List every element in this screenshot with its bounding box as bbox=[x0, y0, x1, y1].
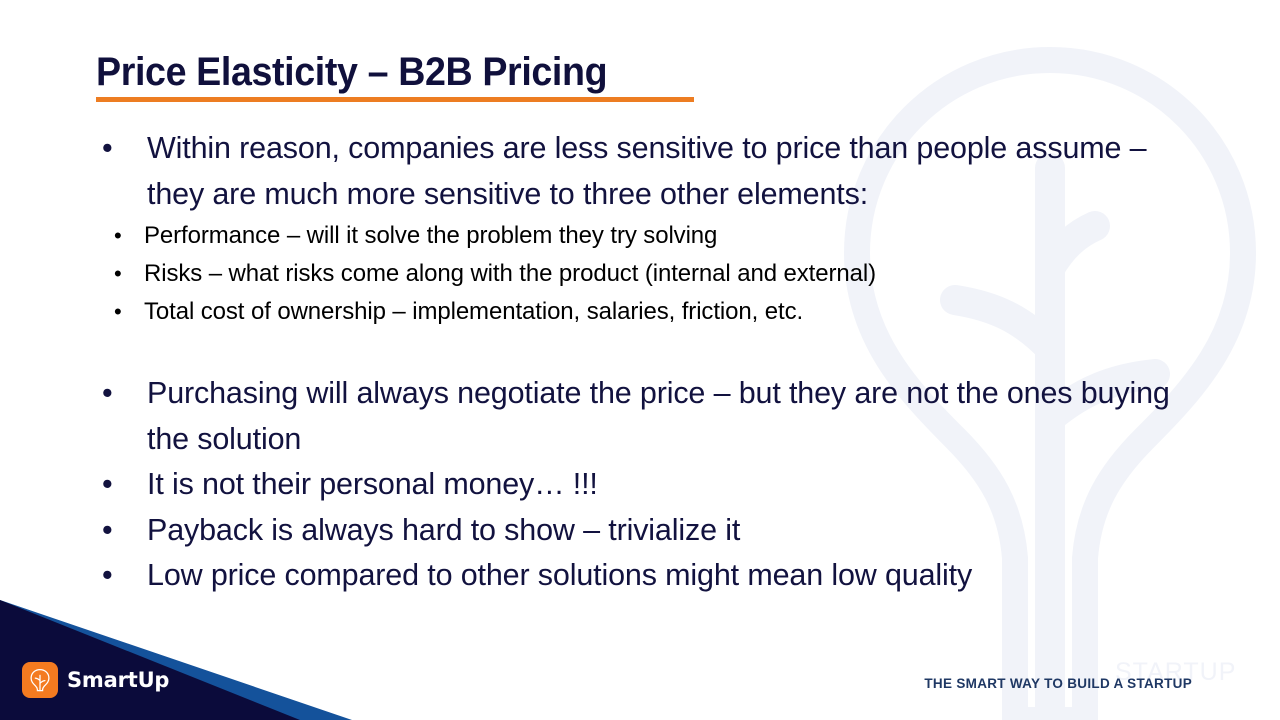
bullet-text: Within reason, companies are less sensit… bbox=[147, 131, 1146, 211]
bullet-text: Payback is always hard to show – trivial… bbox=[147, 513, 740, 547]
footer-tagline: THE SMART WAY TO BUILD A STARTUP bbox=[924, 676, 1192, 691]
bullet-marker: • bbox=[114, 255, 122, 293]
title-underline-rule bbox=[96, 97, 694, 102]
lightbulb-tree-icon bbox=[27, 667, 53, 693]
brand-wordmark: SmartUp bbox=[67, 668, 169, 692]
bullet-text: Purchasing will always negotiate the pri… bbox=[147, 376, 1170, 456]
brand-logo-lockup: SmartUp bbox=[22, 662, 169, 698]
slide-canvas: STARTUP Price Elasticity – B2B Pricing •… bbox=[0, 0, 1280, 720]
sub-bullet-item-2: • Risks – what risks come along with the… bbox=[96, 255, 1206, 293]
bullet-marker: • bbox=[102, 126, 113, 172]
sub-bullet-item-1: • Performance – will it solve the proble… bbox=[96, 217, 1206, 255]
bullet-marker: • bbox=[102, 508, 113, 554]
bullet-marker: • bbox=[114, 217, 122, 255]
page-title: Price Elasticity – B2B Pricing bbox=[96, 50, 658, 94]
corner-decoration bbox=[0, 600, 420, 720]
bullet-item-4: • Payback is always hard to show – trivi… bbox=[96, 508, 1206, 554]
bullet-text: Risks – what risks come along with the p… bbox=[144, 260, 876, 287]
bullet-marker: • bbox=[114, 293, 122, 331]
corner-navy-triangle bbox=[0, 600, 300, 720]
slide-body: • Within reason, companies are less sens… bbox=[96, 126, 1206, 599]
bullet-item-1: • Within reason, companies are less sens… bbox=[96, 126, 1206, 217]
bullet-text: Performance – will it solve the problem … bbox=[144, 222, 717, 249]
bullet-text: Low price compared to other solutions mi… bbox=[147, 558, 972, 592]
bullet-item-2: • Purchasing will always negotiate the p… bbox=[96, 371, 1206, 462]
smartup-logo-tile bbox=[22, 662, 58, 698]
bullet-item-5: • Low price compared to other solutions … bbox=[96, 553, 1206, 599]
bullet-group-spacer bbox=[96, 331, 1206, 371]
bullet-text: Total cost of ownership – implementation… bbox=[144, 298, 803, 325]
bullet-marker: • bbox=[102, 553, 113, 599]
page-title-block: Price Elasticity – B2B Pricing bbox=[96, 50, 694, 102]
bullet-text: It is not their personal money… !!! bbox=[147, 467, 598, 501]
bullet-marker: • bbox=[102, 371, 113, 417]
bullet-marker: • bbox=[102, 462, 113, 508]
bullet-item-3: • It is not their personal money… !!! bbox=[96, 462, 1206, 508]
sub-bullet-list: • Performance – will it solve the proble… bbox=[96, 217, 1206, 331]
bullet-list: • Within reason, companies are less sens… bbox=[96, 126, 1206, 599]
sub-bullet-item-3: • Total cost of ownership – implementati… bbox=[96, 293, 1206, 331]
